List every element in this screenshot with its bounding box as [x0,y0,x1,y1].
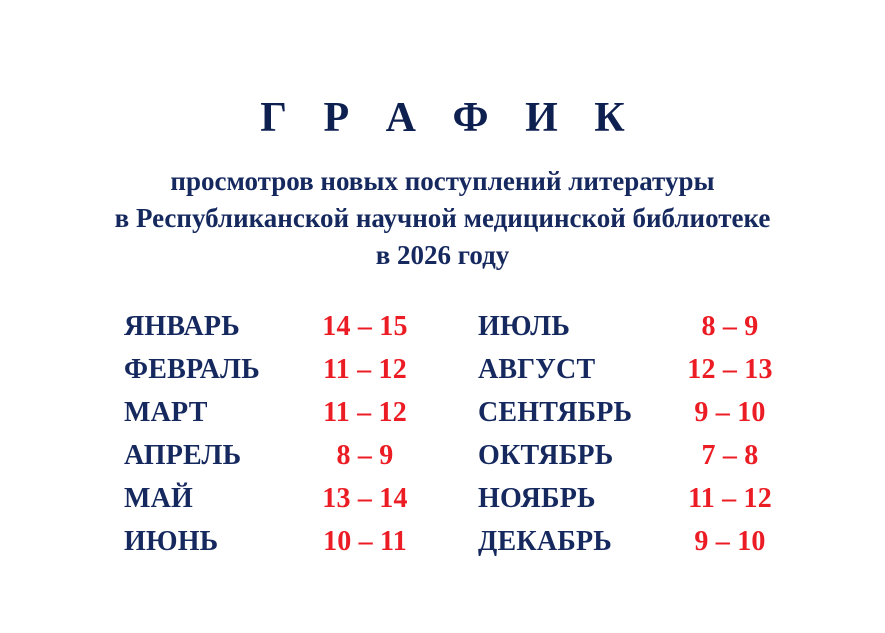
table-row: МАЙ 13 – 14 НОЯБРЬ 11 – 12 [0,477,885,520]
subtitle-line-3: в 2026 году [0,237,885,274]
month-dates-october: 7 – 8 [660,434,800,477]
month-name-february: ФЕВРАЛЬ [124,348,300,391]
month-dates-april: 8 – 9 [300,434,430,477]
row-gap [430,520,478,563]
row-spacer-right [800,305,885,348]
schedule-table: ЯНВАРЬ 14 – 15 ИЮЛЬ 8 – 9 ФЕВРАЛЬ 11 – 1… [0,305,885,563]
month-name-december: ДЕКАБРЬ [478,520,660,563]
month-dates-may: 13 – 14 [300,477,430,520]
subtitle-block: просмотров новых поступлений литературы … [0,163,885,274]
row-gap [430,348,478,391]
month-name-june: ИЮНЬ [124,520,300,563]
row-spacer-right [800,434,885,477]
table-row: АПРЕЛЬ 8 – 9 ОКТЯБРЬ 7 – 8 [0,434,885,477]
row-gap [430,434,478,477]
row-spacer-left [0,305,124,348]
month-dates-august: 12 – 13 [660,348,800,391]
row-gap [430,391,478,434]
table-row: МАРТ 11 – 12 СЕНТЯБРЬ 9 – 10 [0,391,885,434]
month-dates-january: 14 – 15 [300,305,430,348]
month-dates-september: 9 – 10 [660,391,800,434]
subtitle-line-1: просмотров новых поступлений литературы [0,163,885,200]
month-name-january: ЯНВАРЬ [124,305,300,348]
month-dates-december: 9 – 10 [660,520,800,563]
row-spacer-left [0,520,124,563]
row-spacer-right [800,520,885,563]
month-name-august: АВГУСТ [478,348,660,391]
row-spacer-right [800,477,885,520]
month-name-october: ОКТЯБРЬ [478,434,660,477]
month-dates-november: 11 – 12 [660,477,800,520]
row-spacer-left [0,348,124,391]
row-spacer-right [800,391,885,434]
month-dates-july: 8 – 9 [660,305,800,348]
month-dates-june: 10 – 11 [300,520,430,563]
month-name-april: АПРЕЛЬ [124,434,300,477]
month-dates-march: 11 – 12 [300,391,430,434]
table-row: ИЮНЬ 10 – 11 ДЕКАБРЬ 9 – 10 [0,520,885,563]
month-name-september: СЕНТЯБРЬ [478,391,660,434]
title-block: Г Р А Ф И К [0,68,885,168]
table-row: ФЕВРАЛЬ 11 – 12 АВГУСТ 12 – 13 [0,348,885,391]
row-spacer-left [0,477,124,520]
poster-page: Г Р А Ф И К просмотров новых поступлений… [0,0,885,633]
row-spacer-left [0,434,124,477]
row-spacer-right [800,348,885,391]
month-name-november: НОЯБРЬ [478,477,660,520]
month-name-july: ИЮЛЬ [478,305,660,348]
row-gap [430,477,478,520]
schedule-body: ЯНВАРЬ 14 – 15 ИЮЛЬ 8 – 9 ФЕВРАЛЬ 11 – 1… [0,305,885,563]
page-title: Г Р А Ф И К [247,96,637,140]
subtitle-line-2: в Республиканской научной медицинской би… [0,200,885,237]
month-dates-february: 11 – 12 [300,348,430,391]
row-spacer-left [0,391,124,434]
month-name-march: МАРТ [124,391,300,434]
table-row: ЯНВАРЬ 14 – 15 ИЮЛЬ 8 – 9 [0,305,885,348]
month-name-may: МАЙ [124,477,300,520]
row-gap [430,305,478,348]
